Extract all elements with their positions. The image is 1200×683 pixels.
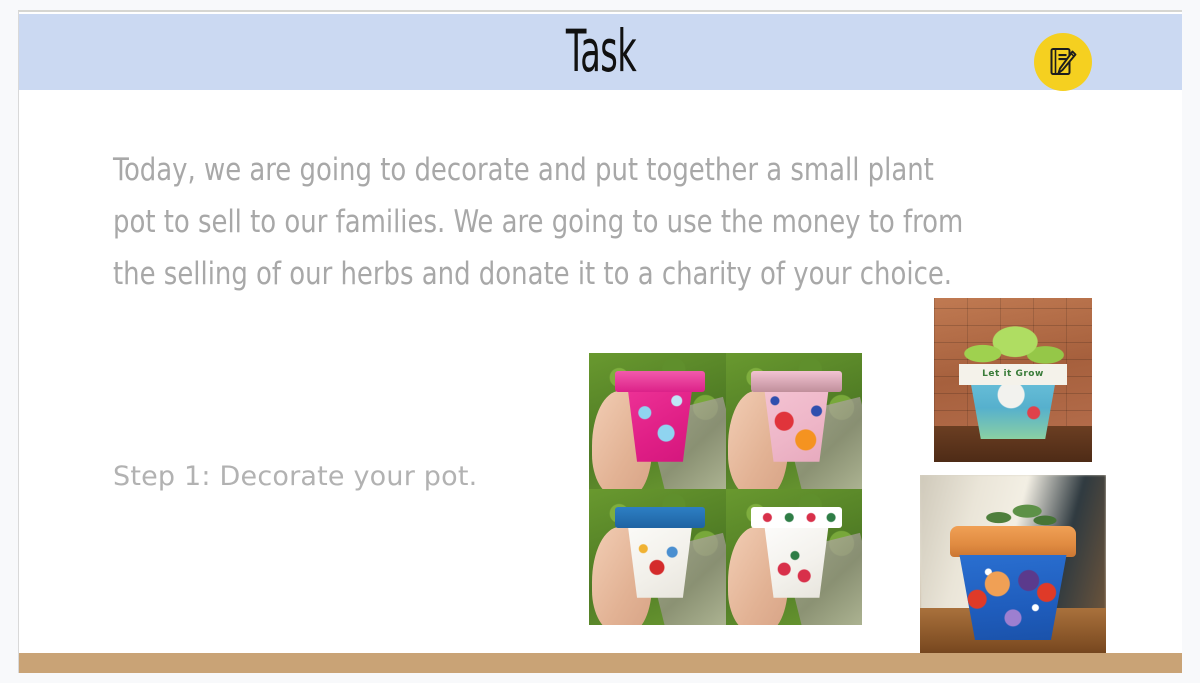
painted-pots-collage-image bbox=[589, 353, 862, 625]
let-it-grow-pot-image: Let it Grow bbox=[934, 298, 1092, 462]
notebook-pencil-icon bbox=[1034, 33, 1092, 91]
collage-panel-fruit bbox=[726, 353, 863, 489]
pot-rim-shape bbox=[615, 507, 705, 529]
slide-header-bar: Task bbox=[19, 14, 1182, 90]
blue-folk-art-pot-image bbox=[920, 475, 1106, 665]
pot-painted-text: Let it Grow bbox=[959, 364, 1066, 385]
pot-rim-shape bbox=[615, 371, 705, 393]
slide-canvas: Task Today, we are going to decorate and… bbox=[18, 10, 1182, 673]
pot-rim-shape bbox=[751, 507, 841, 529]
collage-panel-wine-doodles bbox=[589, 489, 726, 625]
task-description-paragraph: Today, we are going to decorate and put … bbox=[113, 144, 969, 300]
page-title: Task bbox=[263, 20, 938, 82]
bottom-accent-bar bbox=[19, 653, 1182, 673]
pot-rim-shape bbox=[950, 526, 1076, 556]
collage-panel-hearts-strawberries bbox=[726, 489, 863, 625]
collage-panel-pink-bows bbox=[589, 353, 726, 489]
pot-shape bbox=[957, 555, 1069, 641]
pot-rim-shape bbox=[751, 371, 841, 393]
